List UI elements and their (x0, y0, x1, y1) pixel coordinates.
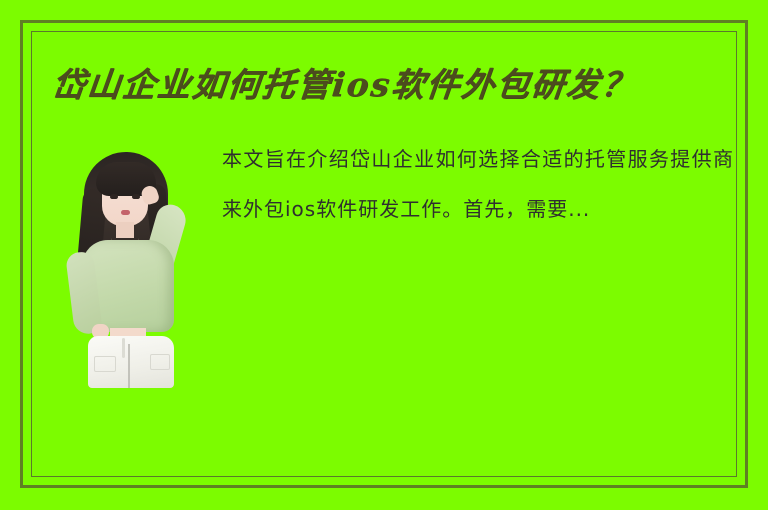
neck-shape (116, 222, 134, 238)
right-eye-shape (132, 194, 140, 199)
pants-pocket-right (150, 354, 170, 370)
lips-shape (121, 210, 130, 215)
page-title: 岱山企业如何托管ios软件外包研发？ (49, 62, 718, 112)
young-woman-illustration (58, 148, 192, 388)
pants-drawstring (122, 338, 125, 358)
pants-center-seam (128, 344, 130, 388)
pants-pocket-left (94, 356, 116, 372)
left-eye-shape (110, 194, 118, 199)
article-cover-card: 岱山企业如何托管ios软件外包研发？ 本文旨在介绍岱山企业如何选择合适的托管服务… (0, 0, 768, 510)
article-summary: 本文旨在介绍岱山企业如何选择合适的托管服务提供商来外包ios软件研发工作。首先，… (222, 134, 734, 234)
